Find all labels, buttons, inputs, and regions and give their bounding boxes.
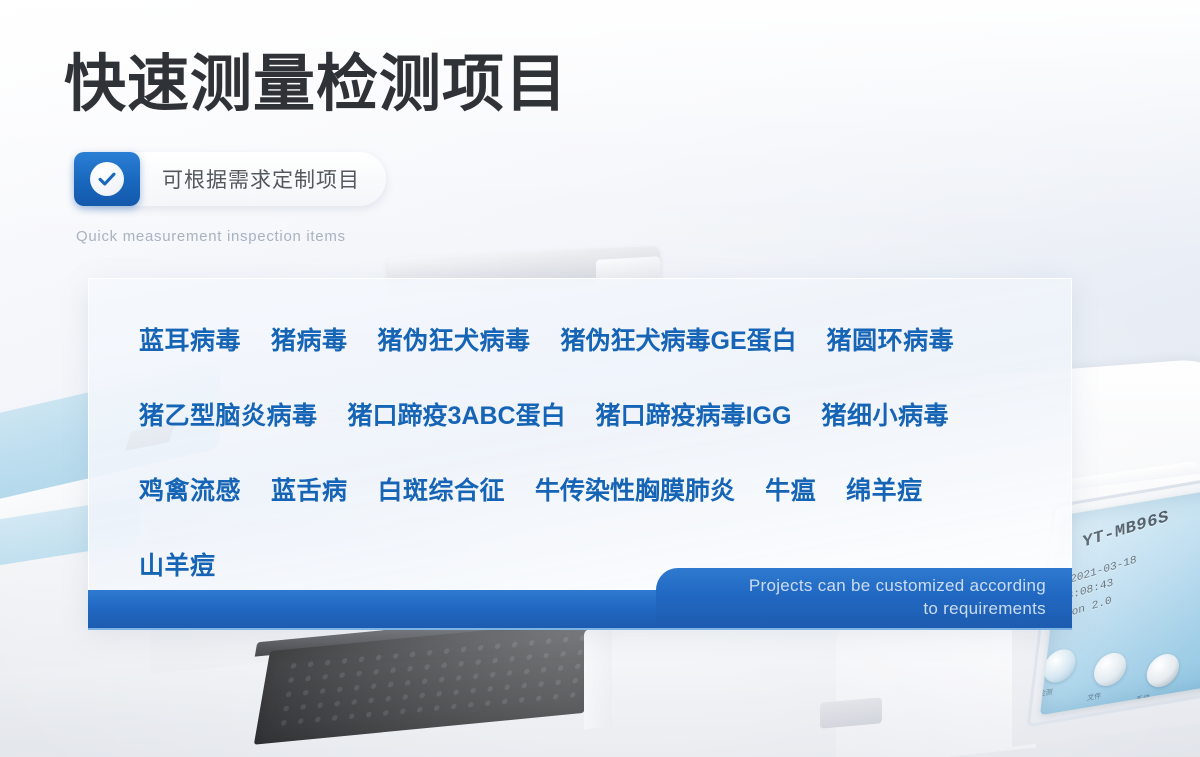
detection-items-row: 鸡禽流感蓝舌病白斑综合征牛传染性胸膜肺炎牛瘟绵羊痘 bbox=[115, 451, 1045, 526]
detection-item: 牛传染性胸膜肺炎 bbox=[535, 471, 735, 507]
detection-item: 白斑综合征 bbox=[378, 471, 506, 507]
detection-item: 蓝舌病 bbox=[271, 471, 348, 507]
page-title: 快速测量检测项目 bbox=[64, 53, 568, 115]
subtitle-english: Quick measurement inspection items bbox=[76, 228, 346, 245]
detection-item: 猪伪狂犬病毒 bbox=[378, 321, 531, 357]
detection-item: 牛瘟 bbox=[765, 471, 816, 507]
screen-icon-label-1: 文件 bbox=[1086, 691, 1101, 704]
detection-item: 猪口蹄疫病毒IGG bbox=[596, 396, 792, 432]
sample-tray-wall bbox=[584, 627, 612, 730]
check-circle-icon bbox=[90, 162, 124, 196]
detection-item: 山羊痘 bbox=[139, 546, 216, 582]
detection-item: 猪伪狂犬病毒GE蛋白 bbox=[561, 321, 797, 357]
detection-item: 蓝耳病毒 bbox=[139, 321, 241, 357]
detection-items-row: 蓝耳病毒猪病毒猪伪狂犬病毒猪伪狂犬病毒GE蛋白猪圆环病毒 bbox=[115, 301, 1045, 376]
sample-tray-wells bbox=[274, 631, 586, 729]
detection-item: 猪圆环病毒 bbox=[827, 321, 955, 357]
detection-items-panel: 蓝耳病毒猪病毒猪伪狂犬病毒猪伪狂犬病毒GE蛋白猪圆环病毒猪乙型脑炎病毒猪口蹄疫3… bbox=[88, 278, 1072, 628]
detection-item: 猪病毒 bbox=[271, 321, 348, 357]
screen-file-icon[interactable] bbox=[1092, 650, 1128, 688]
detection-items-list: 蓝耳病毒猪病毒猪伪狂犬病毒猪伪狂犬病毒GE蛋白猪圆环病毒猪乙型脑炎病毒猪口蹄疫3… bbox=[115, 301, 1045, 601]
screen-model-text: YT-MB96S bbox=[1082, 508, 1169, 553]
device-foot-pad bbox=[820, 697, 882, 728]
badge-chip bbox=[74, 152, 140, 206]
detection-items-row: 山羊痘 bbox=[115, 526, 1045, 601]
detection-item: 猪细小病毒 bbox=[821, 396, 949, 432]
detection-item: 鸡禽流感 bbox=[139, 471, 241, 507]
screen-power-icon[interactable] bbox=[1145, 652, 1181, 690]
customizable-badge: 可根据需求定制项目 bbox=[74, 152, 386, 206]
detection-item: 绵羊痘 bbox=[846, 471, 923, 507]
badge-label: 可根据需求定制项目 bbox=[162, 164, 360, 194]
detection-items-row: 猪乙型脑炎病毒猪口蹄疫3ABC蛋白猪口蹄疫病毒IGG猪细小病毒 bbox=[115, 376, 1045, 451]
screen-detect-icon[interactable] bbox=[1042, 647, 1078, 685]
detection-item: 猪口蹄疫3ABC蛋白 bbox=[348, 396, 566, 432]
detection-item: 猪乙型脑炎病毒 bbox=[139, 396, 318, 432]
